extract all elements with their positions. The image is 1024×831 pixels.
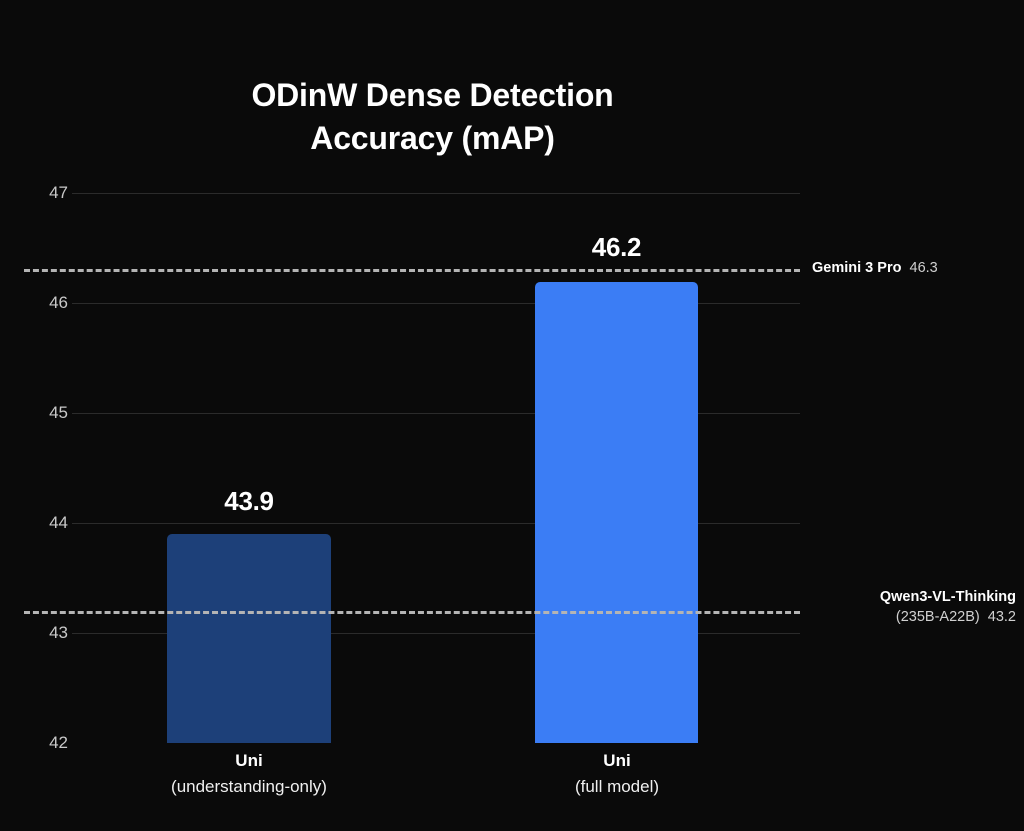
- reference-label-gemini-3-pro-value: 46.3: [910, 260, 938, 276]
- bar-value-label-understanding-only: 43.9: [167, 486, 331, 517]
- reference-label-qwen3-vl-thinking: Qwen3-VL-Thinking (235B-A22B) 43.2: [786, 588, 1016, 627]
- reference-label-qwen3-vl-thinking-name: Qwen3-VL-Thinking: [786, 588, 1016, 608]
- y-tick-label-43: 43: [28, 623, 68, 643]
- x-axis-label-full-model-main: Uni: [497, 748, 737, 774]
- bar-uni-understanding-only: [167, 534, 331, 743]
- x-axis-label-understanding-only: Uni (understanding-only): [129, 748, 369, 801]
- y-tick-label-46: 46: [28, 293, 68, 313]
- x-axis-label-full-model-sub: (full model): [497, 774, 737, 800]
- bar-value-label-full-model: 46.2: [535, 232, 698, 263]
- y-tick-label-44: 44: [28, 513, 68, 533]
- x-axis-label-full-model: Uni (full model): [497, 748, 737, 801]
- chart-figure: ODinW Dense DetectionAccuracy (mAP) 47 4…: [0, 0, 1024, 831]
- reference-label-qwen3-vl-thinking-value: 43.2: [988, 609, 1016, 625]
- bar-uni-full-model: [535, 282, 698, 743]
- reference-line-qwen3-vl-thinking: [24, 611, 800, 614]
- reference-label-qwen3-vl-thinking-detail: (235B-A22B) 43.2: [786, 608, 1016, 628]
- y-tick-label-47: 47: [28, 183, 68, 203]
- y-tick-label-42: 42: [28, 733, 68, 753]
- reference-label-gemini-3-pro-name: Gemini 3 Pro: [812, 260, 901, 276]
- reference-label-gemini-3-pro: Gemini 3 Pro 46.3: [812, 259, 1024, 279]
- plot-area: 47 46 45 44 43 42 43.9 46.2 Gemini 3 Pro…: [0, 0, 1024, 831]
- gridline-47: [72, 193, 800, 194]
- x-axis-label-understanding-only-main: Uni: [129, 748, 369, 774]
- reference-label-qwen3-vl-thinking-sub: (235B-A22B): [896, 609, 980, 625]
- reference-line-gemini-3-pro: [24, 269, 800, 272]
- x-axis-label-understanding-only-sub: (understanding-only): [129, 774, 369, 800]
- y-tick-label-45: 45: [28, 403, 68, 423]
